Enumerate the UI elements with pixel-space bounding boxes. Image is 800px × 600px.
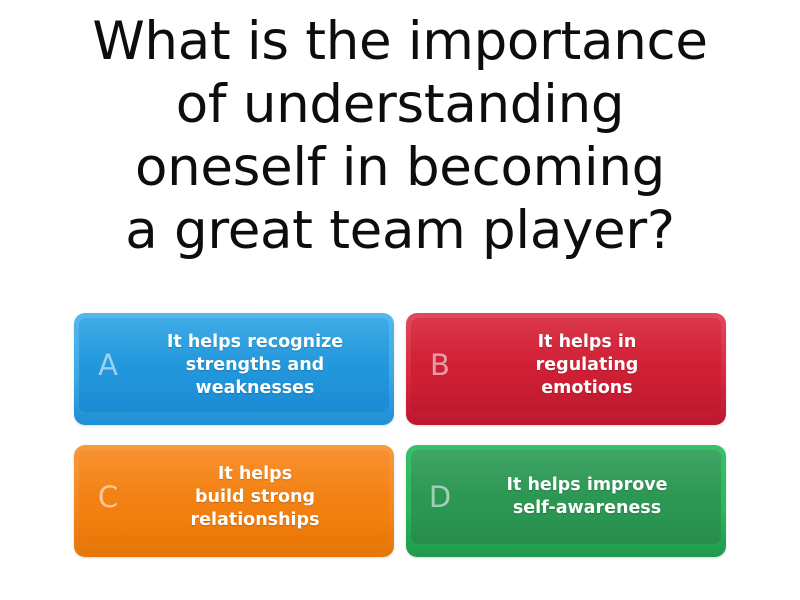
answer-option-d-face: D It helps improve self-awareness	[411, 450, 721, 544]
answer-options-grid: A It helps recognize strengths and weakn…	[74, 313, 726, 557]
answer-option-b-face: B It helps in regulating emotions	[411, 318, 721, 412]
answer-letter-d: D	[411, 483, 469, 512]
answer-label-c: It helps build strong relationships	[137, 463, 389, 532]
answer-letter-b: B	[411, 351, 469, 380]
answer-option-a-face: A It helps recognize strengths and weakn…	[79, 318, 389, 412]
answer-label-d: It helps improve self-awareness	[469, 474, 721, 520]
answer-option-a[interactable]: A It helps recognize strengths and weakn…	[74, 313, 394, 425]
answer-label-a: It helps recognize strengths and weaknes…	[137, 331, 389, 400]
answer-letter-a: A	[79, 351, 137, 380]
answer-option-b[interactable]: B It helps in regulating emotions	[406, 313, 726, 425]
quiz-slide: What is the importance of understanding …	[0, 0, 800, 600]
answer-option-c-face: C It helps build strong relationships	[79, 450, 389, 544]
page-title: What is the importance of understanding …	[70, 10, 730, 262]
answer-label-b: It helps in regulating emotions	[469, 331, 721, 400]
answer-option-d[interactable]: D It helps improve self-awareness	[406, 445, 726, 557]
question-area: What is the importance of understanding …	[0, 10, 800, 290]
answer-letter-c: C	[79, 483, 137, 512]
answer-option-c[interactable]: C It helps build strong relationships	[74, 445, 394, 557]
